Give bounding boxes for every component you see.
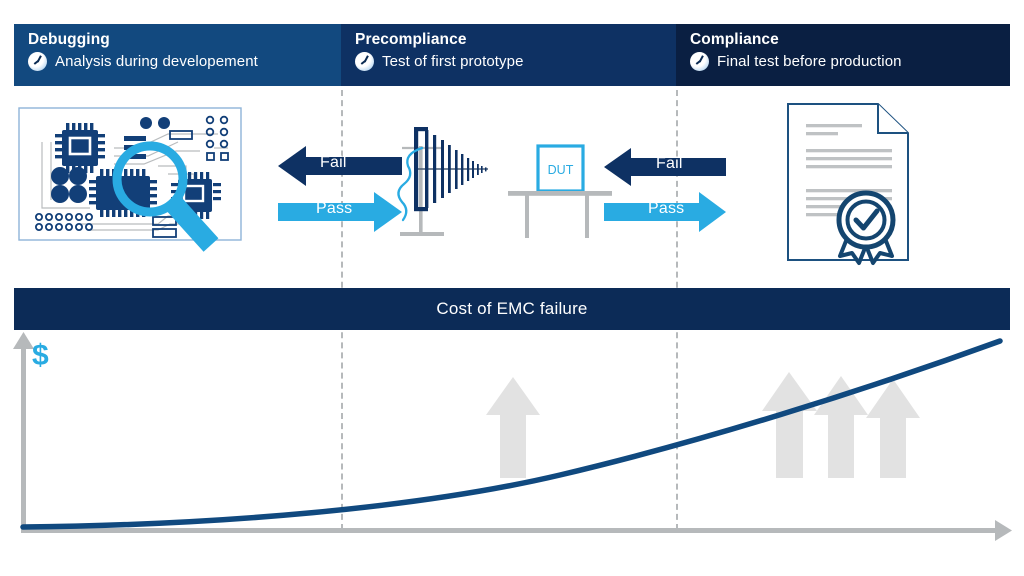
stage-subtitle: Test of first prototype bbox=[382, 52, 524, 71]
clock-icon bbox=[355, 52, 374, 71]
flow-arrows-debugging-precompliance: Fail Pass bbox=[278, 142, 402, 239]
antenna-illustration bbox=[392, 124, 504, 247]
clock-icon bbox=[28, 52, 47, 71]
pass-arrow-label: Pass bbox=[648, 200, 684, 218]
cost-banner-title: Cost of EMC failure bbox=[436, 299, 587, 319]
dut-label: DUT bbox=[548, 163, 574, 177]
stage-header-debugging: Debugging Analysis during developement bbox=[14, 24, 341, 86]
stage-subtitle: Final test before production bbox=[717, 52, 902, 71]
clock-icon bbox=[690, 52, 709, 71]
up-arrow-group-compliance bbox=[762, 372, 920, 478]
stage-title: Precompliance bbox=[355, 31, 676, 49]
cost-banner: Cost of EMC failure bbox=[14, 288, 1010, 330]
stage-title: Compliance bbox=[690, 31, 1010, 49]
fail-arrow-label: Fail bbox=[656, 155, 683, 173]
stage-header-compliance: Compliance Final test before production bbox=[676, 24, 1010, 86]
infographic-root: Debugging Analysis during developement P… bbox=[0, 0, 1024, 576]
pass-arrow-label: Pass bbox=[316, 200, 352, 218]
dut-illustration: DUT bbox=[508, 140, 612, 245]
fail-arrow-label: Fail bbox=[320, 154, 347, 172]
certificate-illustration bbox=[780, 100, 920, 273]
stage-subtitle: Analysis during developement bbox=[55, 52, 258, 71]
stage-header-precompliance: Precompliance Test of first prototype bbox=[341, 24, 676, 86]
flow-arrows-precompliance-compliance: Fail Pass bbox=[604, 144, 726, 239]
up-arrow-group-precompliance bbox=[486, 377, 540, 478]
y-axis-label-dollar: $ bbox=[32, 341, 49, 371]
pcb-illustration bbox=[18, 104, 280, 279]
y-axis bbox=[13, 332, 34, 532]
stage-title: Debugging bbox=[28, 31, 341, 49]
cost-curve-chart bbox=[0, 330, 1024, 545]
